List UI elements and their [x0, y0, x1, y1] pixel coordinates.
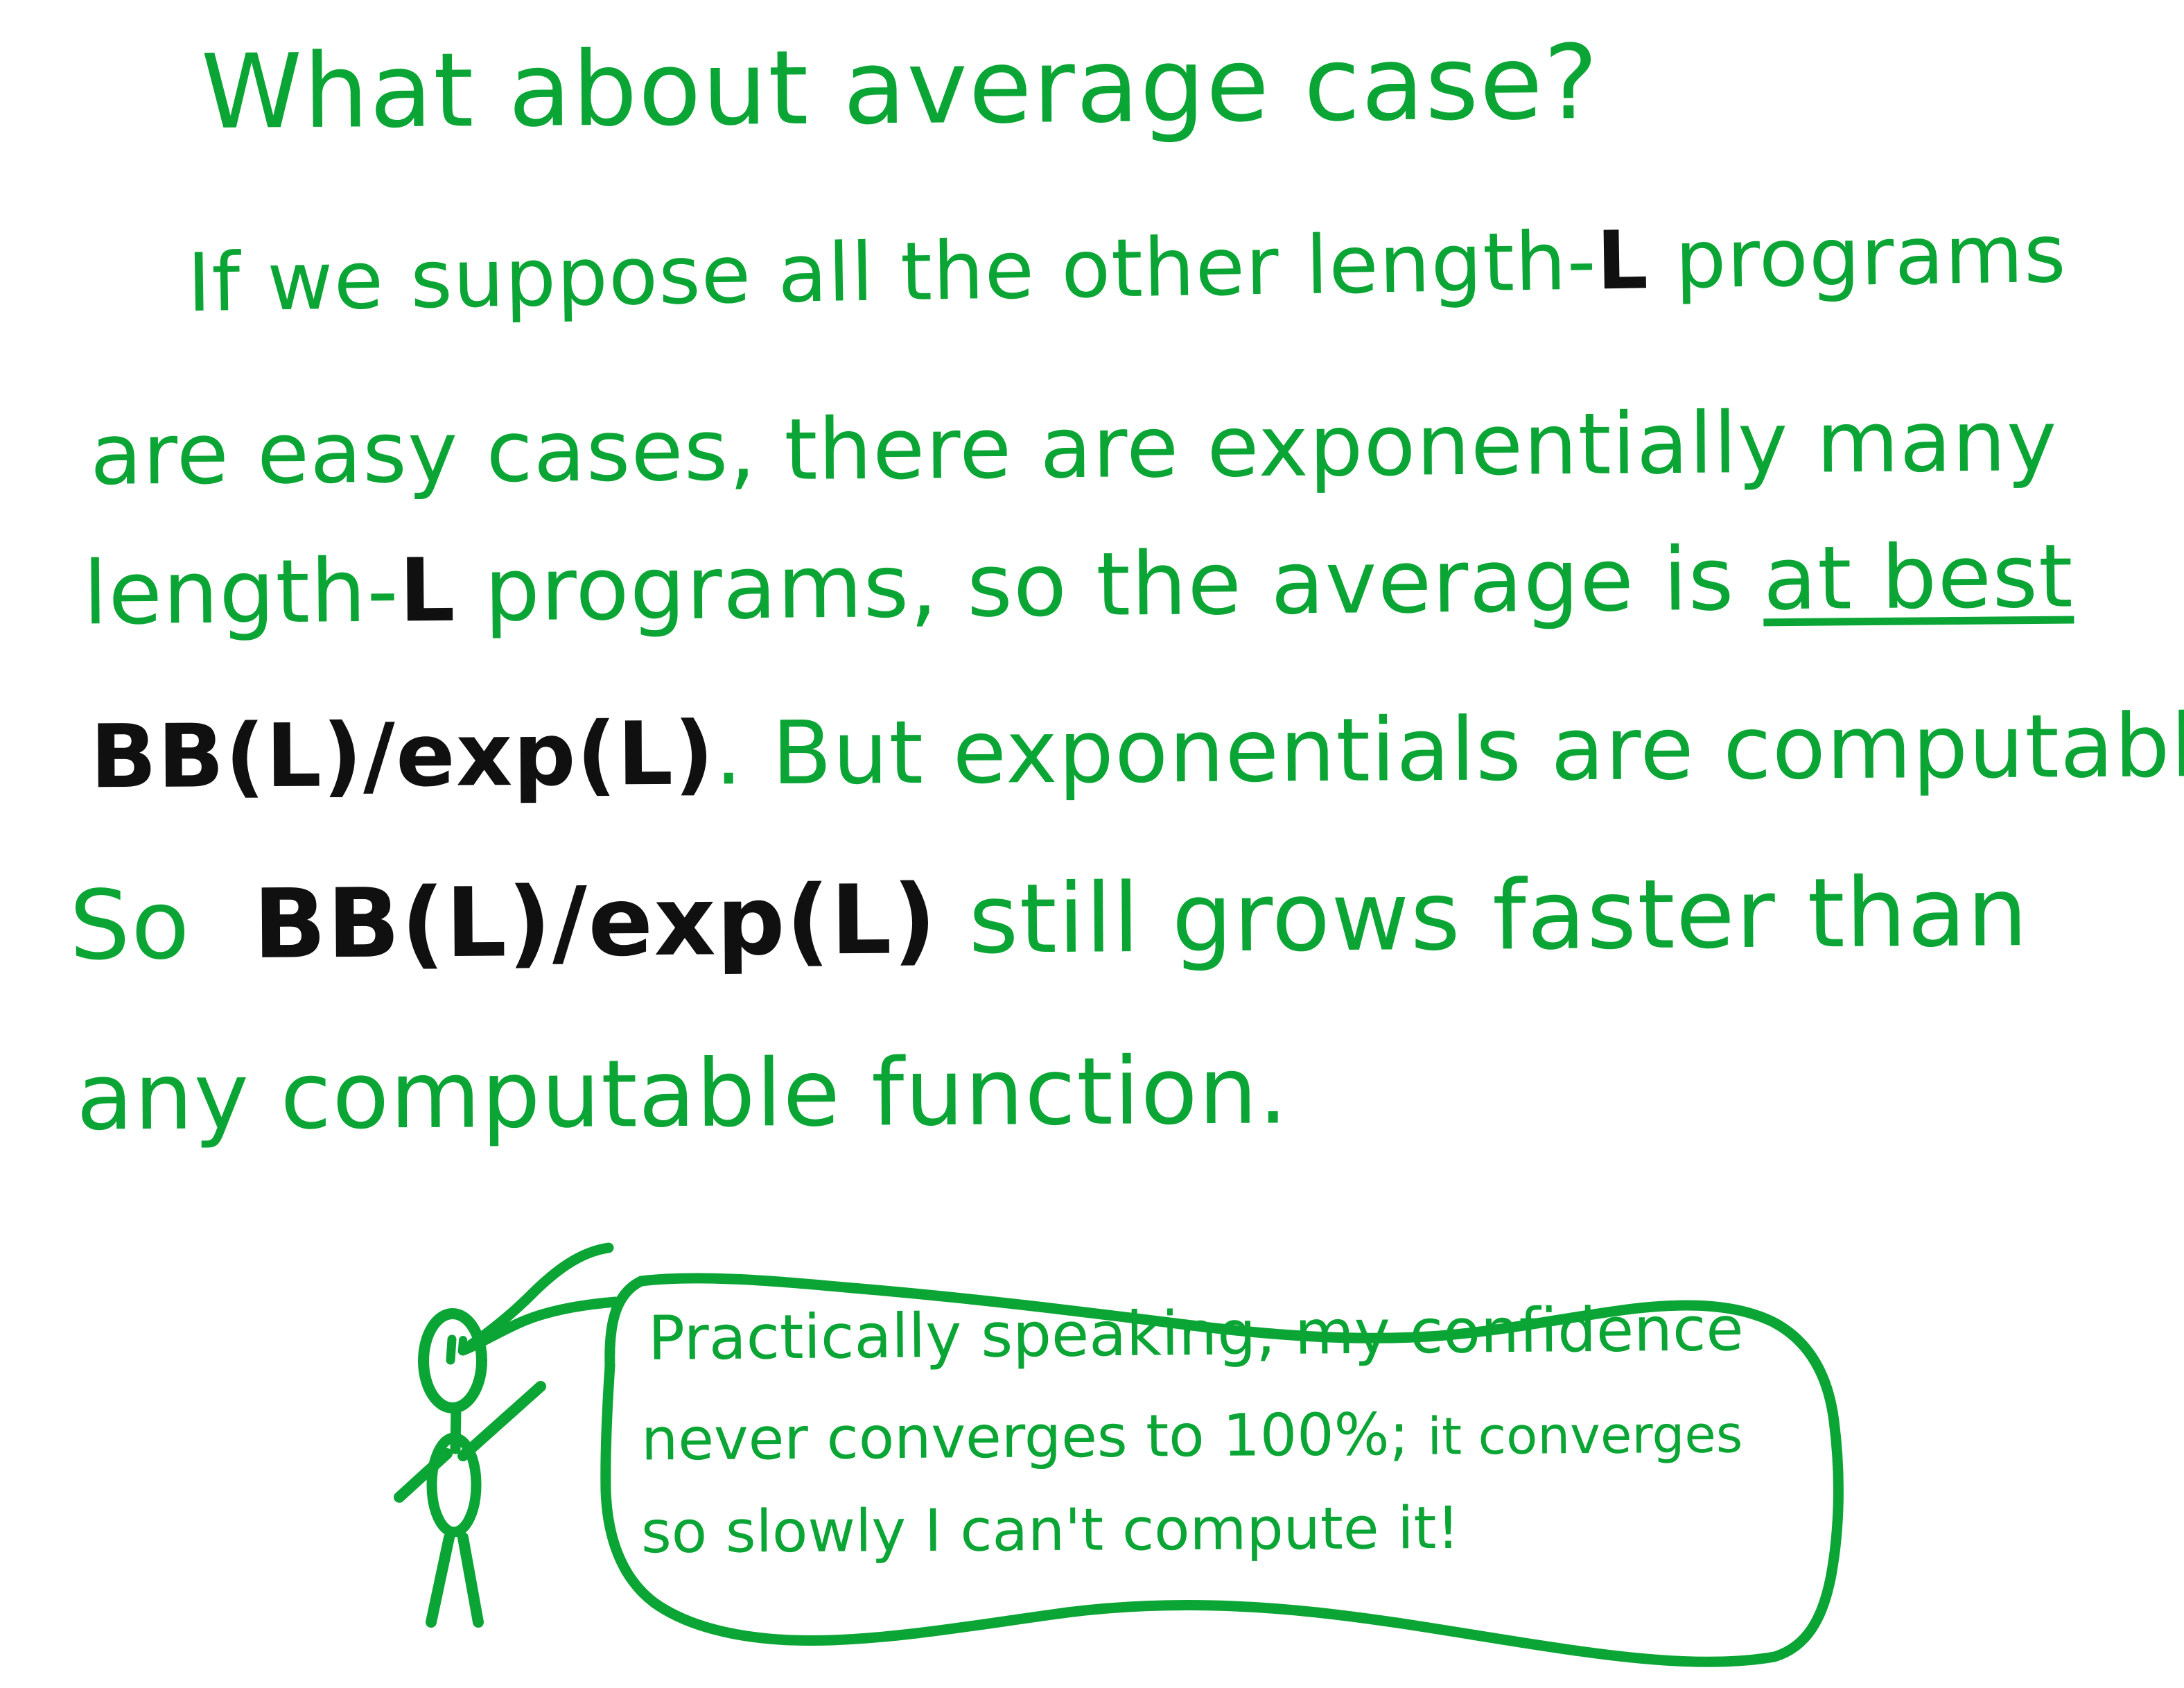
- note-line-5-formula: BB(L)/exp(L): [90, 703, 715, 808]
- stick-figure-icon: [396, 1314, 541, 1622]
- bubble-line-3-pronoun: I: [925, 1497, 942, 1565]
- note-line-1: What about average case?: [200, 23, 1599, 152]
- stick-figure-torso: [432, 1438, 476, 1532]
- note-line-1-text: What about average case?: [200, 23, 1599, 152]
- note-line-6: So BB(L)/exp(L) still grows faster than: [69, 856, 2029, 982]
- note-line-4-text-b: programs, so the average is: [484, 528, 1735, 641]
- note-line-5: BB(L)/exp(L). But exponentials are compu…: [90, 695, 2184, 808]
- stick-figure-eye: [451, 1339, 452, 1360]
- note-line-5-text: . But exponentials are computable.: [715, 695, 2184, 805]
- bubble-line-1: Practically speaking, my confidence: [648, 1293, 1744, 1374]
- bubble-line-1-text: Practically speaking, my confidence: [648, 1293, 1744, 1374]
- note-line-2-text-a: If we suppose all the other length-: [186, 214, 1598, 330]
- bubble-line-2: never converges to 100%; it converges: [641, 1398, 1743, 1473]
- note-line-4-symbol-L: L: [399, 539, 456, 642]
- bubble-line-3: so slowly I can't compute it!: [641, 1494, 1460, 1566]
- note-line-6-text-a: So: [69, 869, 191, 982]
- note-line-2-text-b: programs: [1675, 207, 2068, 307]
- note-line-2-symbol-L: L: [1596, 214, 1650, 308]
- note-line-6-formula: BB(L)/exp(L): [253, 864, 938, 980]
- stick-figure-left-arm: [396, 1454, 451, 1497]
- bubble-line-3-text-a: so slowly: [641, 1497, 907, 1566]
- bubble-line-2-text-a: never converges to: [641, 1402, 1205, 1474]
- bubble-line-2-percent: 100%;: [1223, 1400, 1409, 1470]
- stick-figure-right-arm: [463, 1386, 541, 1456]
- handwritten-note-canvas: What about average case? If we suppose a…: [0, 0, 2184, 1688]
- note-line-3: are easy cases, there are exponentially …: [90, 392, 2059, 504]
- note-line-7-text: any computable function.: [76, 1036, 1289, 1151]
- stick-figure-head: [423, 1314, 482, 1408]
- note-line-4-text-a: length-: [82, 540, 399, 645]
- note-line-4: length-L programs, so the average is at …: [82, 525, 2074, 644]
- note-line-3-text: are easy cases, there are exponentially …: [90, 392, 2059, 504]
- stick-figure-right-leg: [463, 1538, 478, 1622]
- stick-figure-left-leg: [431, 1538, 449, 1622]
- bubble-line-2-text-b: it converges: [1427, 1404, 1742, 1466]
- stick-figure-neck: [455, 1409, 456, 1449]
- note-line-2: If we suppose all the other length-L pro…: [186, 207, 2067, 331]
- bubble-line-3-text-b: can't compute it!: [960, 1494, 1460, 1565]
- note-line-4-emphasis: at best: [1763, 525, 2074, 629]
- note-line-6-text-b: still grows faster than: [968, 856, 2029, 975]
- note-line-7: any computable function.: [76, 1036, 1289, 1151]
- speech-bubble-tail: [463, 1248, 615, 1350]
- stick-figure-eye-dot: [462, 1340, 463, 1349]
